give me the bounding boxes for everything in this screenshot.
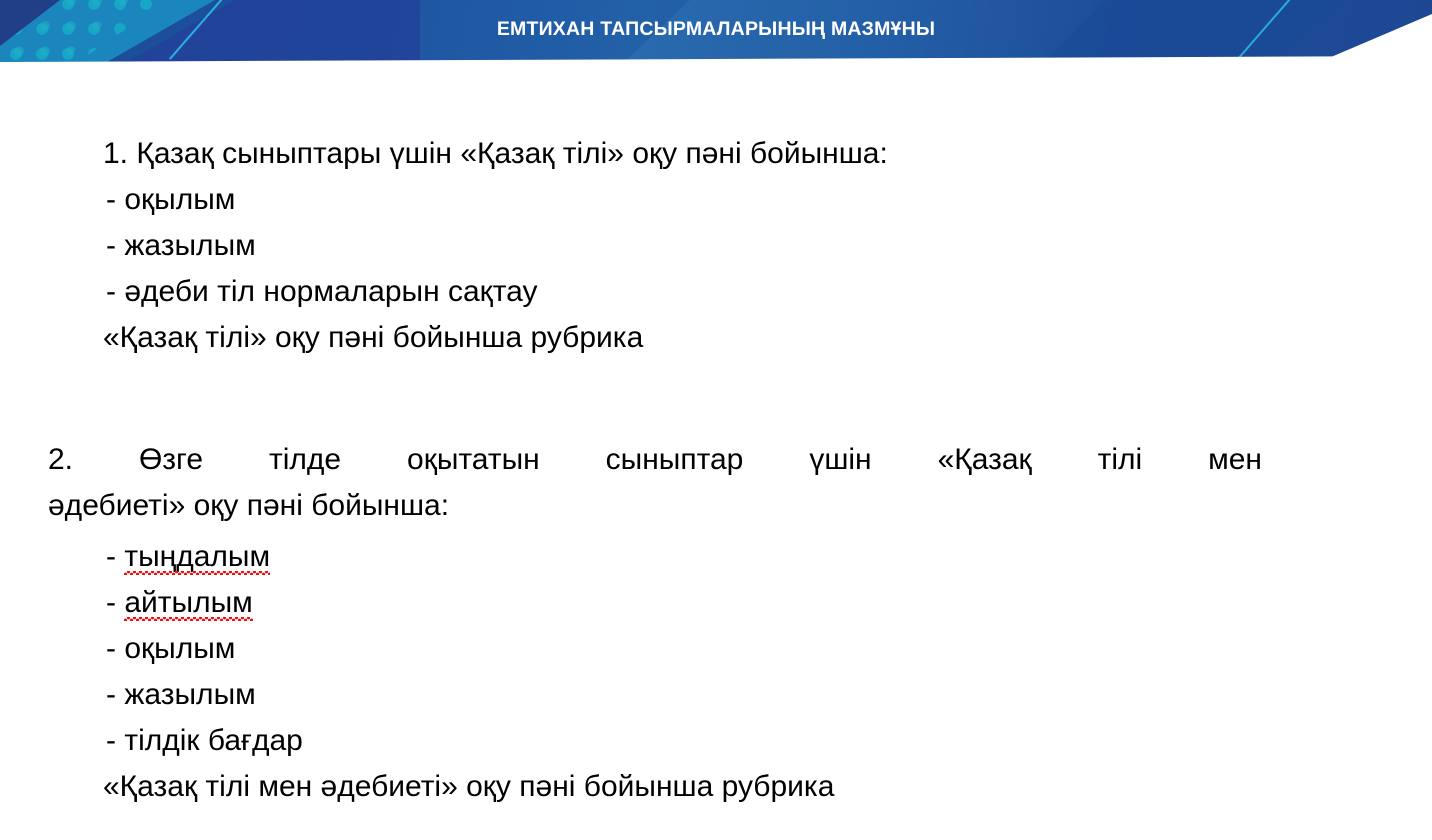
section2-heading-line-2: әдебиеті» оқу пәні бойынша: xyxy=(48,483,1262,529)
section2-item-1-dash: - xyxy=(106,586,124,619)
section2-item-0-label: тыңдалым xyxy=(124,542,270,572)
section1-item-1: - жазылым xyxy=(106,231,256,261)
section2-item-3-dash: - xyxy=(106,678,124,711)
section2-item-4: - тілдік бағдар xyxy=(106,726,303,756)
section2-heading-line-1: 2. Өзге тілде оқытатын сыныптар үшін «Қа… xyxy=(48,437,1262,483)
section2-item-2-label: оқылым xyxy=(124,632,235,665)
section1-heading: 1. Қазақ сыныптары үшін «Қазақ тілі» оқу… xyxy=(103,139,888,169)
section1-item-0: - оқылым xyxy=(106,185,235,215)
section2-item-0: - тыңдалым xyxy=(106,542,270,572)
slide-header-banner: ЕМТИХАН ТАПСЫРМАЛАРЫНЫҢ МАЗМҰНЫ xyxy=(0,0,1432,66)
section2-heading: 2. Өзге тілде оқытатын сыныптар үшін «Қа… xyxy=(48,437,1262,529)
section2-item-4-label: тілдік бағдар xyxy=(124,724,303,757)
slide-body: 1. Қазақ сыныптары үшін «Қазақ тілі» оқу… xyxy=(0,66,1432,840)
section2-item-2-dash: - xyxy=(106,632,124,665)
section1-footer: «Қазақ тілі» оқу пәні бойынша рубрика xyxy=(103,323,643,353)
section2-item-2: - оқылым xyxy=(106,634,235,664)
section2-footer: «Қазақ тілі мен әдебиеті» оқу пәні бойын… xyxy=(103,772,834,802)
section2-item-4-dash: - xyxy=(106,724,124,757)
section2-item-3-label: жазылым xyxy=(124,678,255,711)
section1-item-2: - әдеби тіл нормаларын сақтау xyxy=(106,277,538,307)
section2-item-0-dash: - xyxy=(106,540,124,573)
section2-item-3: - жазылым xyxy=(106,680,256,710)
section2-item-1-label: айтылым xyxy=(124,588,252,618)
slide-title: ЕМТИХАН ТАПСЫРМАЛАРЫНЫҢ МАЗМҰНЫ xyxy=(0,0,1432,58)
section2-item-1: - айтылым xyxy=(106,588,253,618)
